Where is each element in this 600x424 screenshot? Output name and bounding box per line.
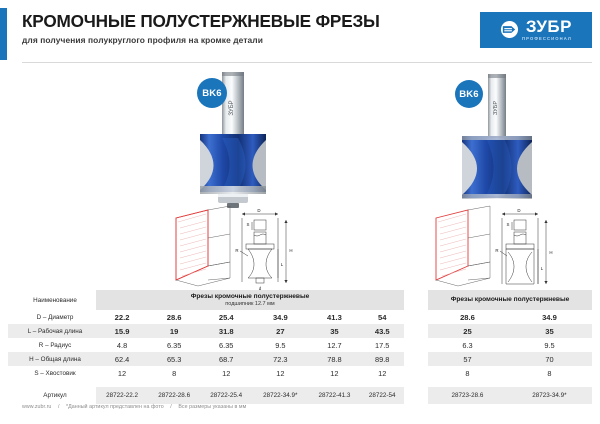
svg-text:ЗУБР: ЗУБР [229,100,235,115]
cell-value: 17.5 [360,338,404,352]
table-spacer [8,380,404,387]
logo-tagline: ПРОФЕССИОНАЛ [522,36,572,41]
cell-value: 6.35 [200,338,252,352]
table-row: 25 35 [428,324,592,338]
footer: www.zubr.ru / *Данный артикул представле… [22,404,246,410]
footer-site[interactable]: www.zubr.ru [22,404,51,410]
cell-value: 43.5 [360,324,404,338]
table-row: 6.3 9.5 [428,338,592,352]
cell-value: 19 [148,324,200,338]
article-row: 28723-28.6 28723-34.9* [428,387,592,404]
spec-table-right: Фрезы кромочные полустержневые 28.6 34.9… [428,290,592,404]
group-title: Фрезы кромочные полустержневые [428,296,592,304]
row-label-radius: R – Радиус [8,338,96,352]
group-subtitle: подшипник 12.7 мм [96,301,404,307]
cell-value: 12 [96,366,148,380]
svg-text:ЗУБР: ЗУБР [493,101,499,115]
cell-value: 62.4 [96,352,148,366]
cell-value: 25.4 [200,310,252,324]
cell-value: 34.9 [507,310,592,324]
article-cell: 28723-34.9* [507,387,592,404]
page-title: КРОМОЧНЫЕ ПОЛУСТЕРЖНЕВЫЕ ФРЕЗЫ [22,12,380,30]
table-row: L – Рабочая длина 15.9 19 31.8 27 35 43.… [8,324,404,338]
cell-value: 70 [507,352,592,366]
dim-label-H: H [549,250,552,255]
row-label-total-length: H – Общая длина [8,352,96,366]
cell-value: 8 [148,366,200,380]
cell-value: 35 [507,324,592,338]
logo-wordmark: ЗУБР [526,19,572,35]
article-cell: 28722-25.4 [200,387,252,404]
article-row: Артикул 28722-22.2 28722-28.6 28722-25.4… [8,387,404,404]
cell-value: 9.5 [252,338,308,352]
technical-drawing-right: D S R H L [428,204,568,294]
cell-value: 34.9 [252,310,308,324]
cell-value: 89.8 [360,352,404,366]
cell-value: 12 [360,366,404,380]
cell-value: 4.8 [96,338,148,352]
cell-value: 22.2 [96,310,148,324]
footer-separator: / [58,404,60,410]
cell-value: 28.6 [148,310,200,324]
article-cell: 28722-41.3 [308,387,360,404]
dim-label-L: L [541,266,544,271]
cell-value: 8 [428,366,507,380]
cell-value: 15.9 [96,324,148,338]
page-subtitle: для получения полукруглого профиля на кр… [22,35,380,45]
article-cell: 28722-22.2 [96,387,148,404]
table-row: H – Общая длина 62.4 65.3 68.7 72.3 78.8… [8,352,404,366]
product-photo-right: ЗУБР [420,62,590,210]
cell-value: 9.5 [507,338,592,352]
cell-value: 27 [252,324,308,338]
footer-note-units: Все размеры указаны в мм [178,404,246,410]
cell-value: 12 [308,366,360,380]
cell-value: 57 [428,352,507,366]
table-spacer [428,380,592,387]
article-cell: 28723-28.6 [428,387,507,404]
cell-value: 78.8 [308,352,360,366]
cell-value: 6.3 [428,338,507,352]
table-row: R – Радиус 4.8 6.35 6.35 9.5 12.7 17.5 [8,338,404,352]
article-label: Артикул [8,387,96,404]
badge-bk6-left: BK6 [197,78,227,108]
title-block: КРОМОЧНЫЕ ПОЛУСТЕРЖНЕВЫЕ ФРЕЗЫ для получ… [22,12,380,45]
row-label-working-length: L – Рабочая длина [8,324,96,338]
arrow-circle-icon [500,20,519,39]
datasheet-page: КРОМОЧНЫЕ ПОЛУСТЕРЖНЕВЫЕ ФРЕЗЫ для получ… [0,0,600,424]
cell-value: 12 [200,366,252,380]
spec-table-left: Наименование Фрезы кромочные полустержне… [8,290,404,404]
table-row: 8 8 [428,366,592,380]
cell-value: 31.8 [200,324,252,338]
dim-label-D: D [517,208,520,213]
table-row: 57 70 [428,352,592,366]
article-cell: 28722-28.6 [148,387,200,404]
dim-label-H: H [289,248,292,253]
group-header-left: Фрезы кромочные полустержневые подшипник… [96,290,404,310]
group-title: Фрезы кромочные полустержневые [96,293,404,301]
table-row: D – Диаметр 22.2 28.6 25.4 34.9 41.3 54 [8,310,404,324]
cell-value: 8 [507,366,592,380]
dim-label-R: R [235,248,238,253]
cell-value: 72.3 [252,352,308,366]
article-cell: 28722-54 [360,387,404,404]
dim-label-D: D [257,208,260,213]
product-photo-left: ЗУБР [160,62,330,210]
cell-value: 25 [428,324,507,338]
cell-value: 12 [252,366,308,380]
zubr-logo: ЗУБР ПРОФЕССИОНАЛ [480,12,592,48]
cell-value: 54 [360,310,404,324]
technical-drawing-left: D S R H L d [168,204,308,294]
dim-label-S: S [507,222,510,227]
table-row: 28.6 34.9 [428,310,592,324]
article-cell: 28722-34.9* [252,387,308,404]
cell-value: 41.3 [308,310,360,324]
footer-separator: / [170,404,172,410]
badge-bk6-right: BK6 [455,80,483,108]
cell-value: 65.3 [148,352,200,366]
accent-bar [0,8,7,60]
dim-label-S: S [247,222,250,227]
cell-value: 12.7 [308,338,360,352]
row-label-diameter: D – Диаметр [8,310,96,324]
dim-label-L: L [281,262,284,267]
cell-value: 35 [308,324,360,338]
row-label-shank: S – Хвостовик [8,366,96,380]
cell-value: 6.35 [148,338,200,352]
name-column-header: Наименование [8,290,96,310]
dim-label-R: R [495,248,498,253]
footer-note-photo: *Данный артикул представлен на фото [66,404,164,410]
group-header-right: Фрезы кромочные полустержневые [428,290,592,310]
table-group-header-row: Наименование Фрезы кромочные полустержне… [8,290,404,310]
cell-value: 28.6 [428,310,507,324]
cell-value: 68.7 [200,352,252,366]
table-group-header-row: Фрезы кромочные полустержневые [428,290,592,310]
table-row: S – Хвостовик 12 8 12 12 12 12 [8,366,404,380]
